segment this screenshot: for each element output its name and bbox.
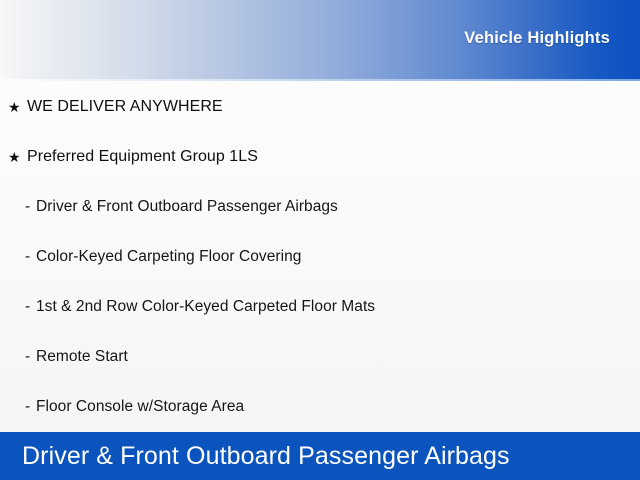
list-item: -Floor Console w/Storage Area [0,382,640,432]
caption-label: Driver & Front Outboard Passenger Airbag… [0,442,510,471]
list-item-label: Preferred Equipment Group 1LS [27,148,258,166]
list-item-label: 1st & 2nd Row Color-Keyed Carpeted Floor… [36,298,375,316]
list-item: -Color-Keyed Carpeting Floor Covering [0,232,640,282]
list-item: ★WE DELIVER ANYWHERE [0,82,640,132]
dash-bullet-icon: - [25,299,36,315]
list-item-label: WE DELIVER ANYWHERE [27,98,223,116]
vehicle-highlights-slide: Vehicle Highlights ★WE DELIVER ANYWHERE★… [0,0,640,480]
dash-bullet-icon: - [25,199,36,215]
list-item-label: Floor Console w/Storage Area [36,398,244,416]
list-item: -Driver & Front Outboard Passenger Airba… [0,182,640,232]
list-item-label: Color-Keyed Carpeting Floor Covering [36,248,301,266]
list-item-label: Remote Start [36,348,128,366]
dash-bullet-icon: - [25,249,36,265]
page-title: Vehicle Highlights [464,29,610,48]
list-item: -Remote Start [0,332,640,382]
list-item-label: Driver & Front Outboard Passenger Airbag… [36,198,338,216]
caption-banner: Driver & Front Outboard Passenger Airbag… [0,432,640,480]
list-item: ★Preferred Equipment Group 1LS [0,132,640,182]
vehicle-highlights-list: ★WE DELIVER ANYWHERE★Preferred Equipment… [0,79,640,432]
star-bullet-icon: ★ [8,150,27,164]
dash-bullet-icon: - [25,399,36,415]
star-bullet-icon: ★ [8,100,27,114]
list-item: -1st & 2nd Row Color-Keyed Carpeted Floo… [0,282,640,332]
dash-bullet-icon: - [25,349,36,365]
